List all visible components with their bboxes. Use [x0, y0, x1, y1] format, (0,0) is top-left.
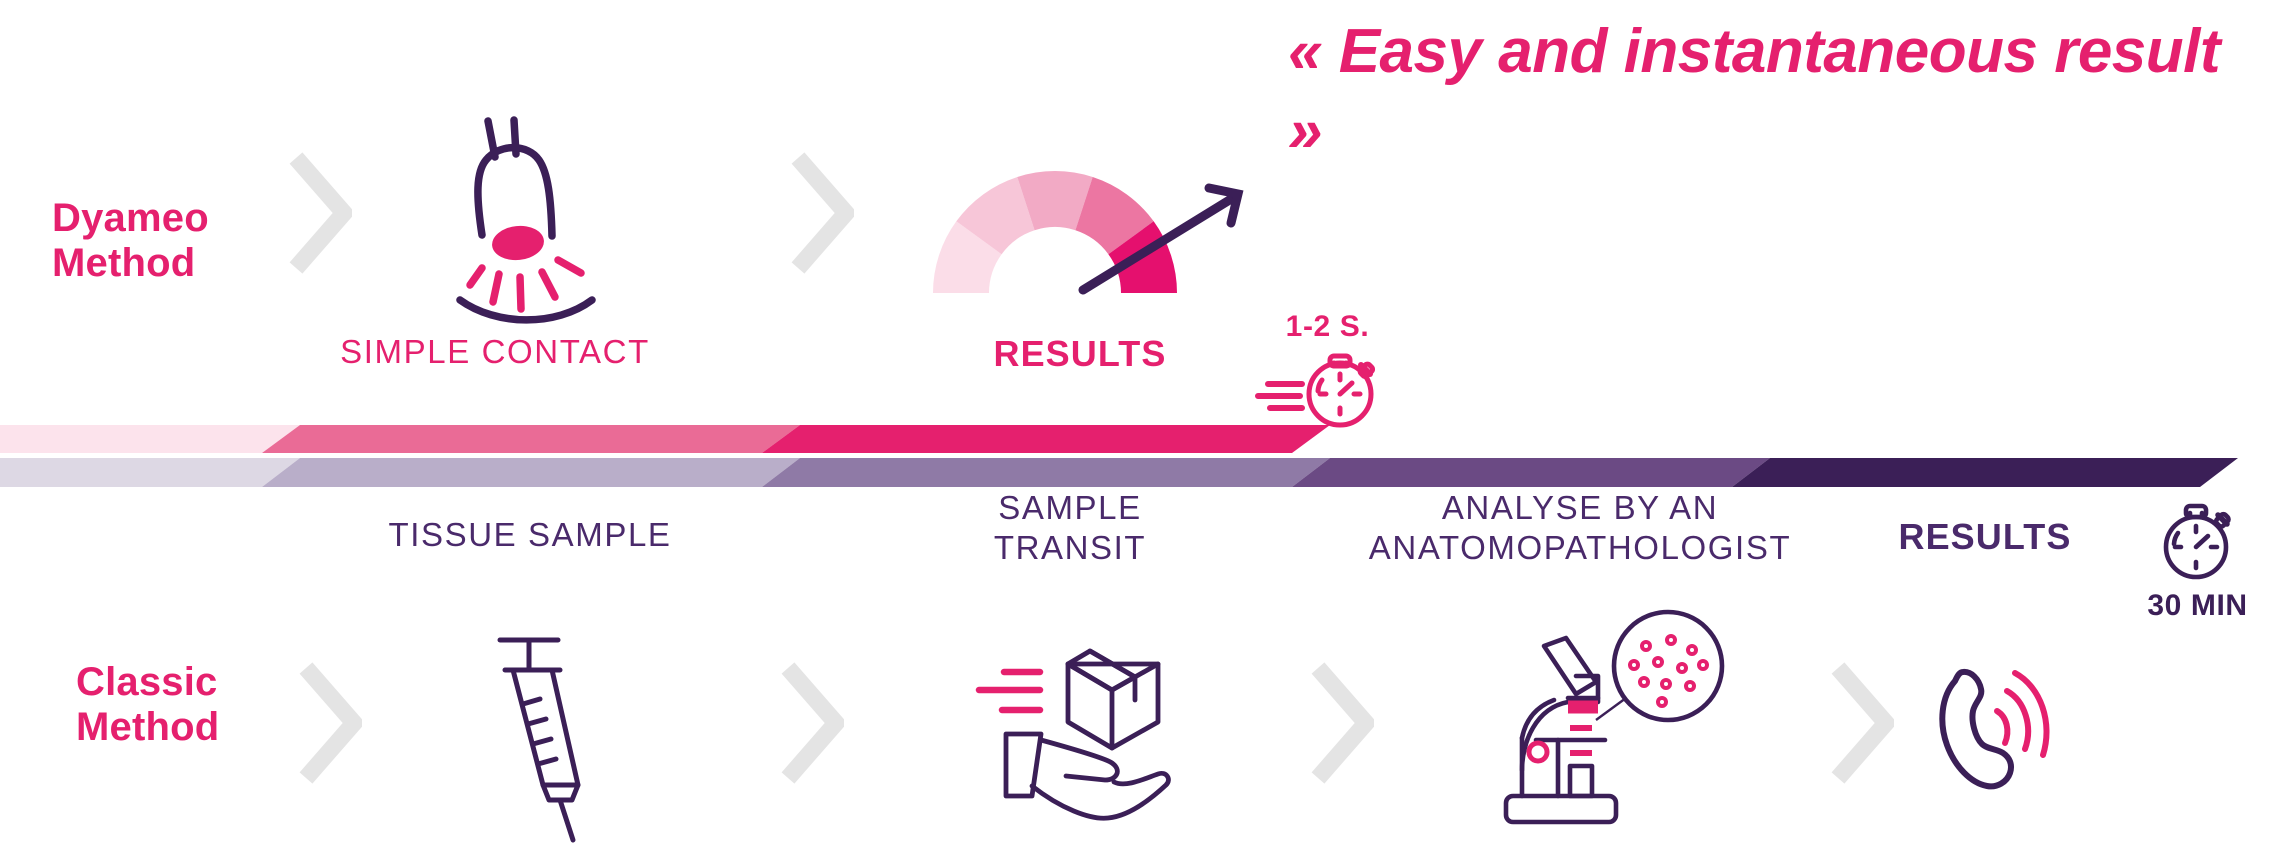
classic-label-line2: Method — [76, 705, 306, 750]
classic-label-line1: Classic — [76, 660, 306, 705]
microscope-icon — [1450, 610, 1730, 838]
chevron-right-icon — [288, 150, 352, 276]
chevron-right-icon — [298, 660, 362, 786]
probe-light-icon — [452, 110, 642, 320]
caption-sample-transit: SAMPLE TRANSIT — [880, 488, 1260, 569]
infographic-root: « Easy and instantaneous result » Dyameo… — [0, 0, 2274, 846]
dyameo-duration-chip: 1-2 S. — [1240, 310, 1415, 424]
chevron-right-icon — [1830, 660, 1894, 786]
headline-quote: « Easy and instantaneous result » — [1288, 12, 2248, 171]
dyameo-label-line2: Method — [52, 241, 282, 286]
caption-analysis: ANALYSE BY AN ANATOMOPATHOLOGIST — [1330, 488, 1830, 569]
classic-method-label: Classic Method — [76, 660, 306, 750]
package-hand-icon — [900, 630, 1250, 830]
caption-classic-results: RESULTS — [1820, 515, 2150, 559]
gauge-icon — [900, 115, 1260, 300]
chevron-right-icon — [790, 150, 854, 276]
dyameo-label-line1: Dyameo — [52, 196, 282, 241]
caption-simple-contact: SIMPLE CONTACT — [285, 332, 705, 372]
classic-duration-chip: 30 MIN — [2110, 495, 2274, 623]
stopwatch-icon — [1256, 350, 1396, 430]
syringe-icon — [455, 625, 635, 840]
chevron-right-icon — [1310, 660, 1374, 786]
stopwatch-icon — [2146, 495, 2246, 587]
dyameo-duration-text: 1-2 S. — [1240, 310, 1415, 344]
phone-ring-icon — [1925, 645, 2125, 805]
caption-dyameo-results: RESULTS — [900, 332, 1260, 376]
dyameo-method-label: Dyameo Method — [52, 196, 282, 286]
chevron-right-icon — [780, 660, 844, 786]
caption-tissue-sample: TISSUE SAMPLE — [330, 515, 730, 555]
timeline-bar — [0, 425, 2274, 487]
classic-duration-text: 30 MIN — [2110, 589, 2274, 623]
